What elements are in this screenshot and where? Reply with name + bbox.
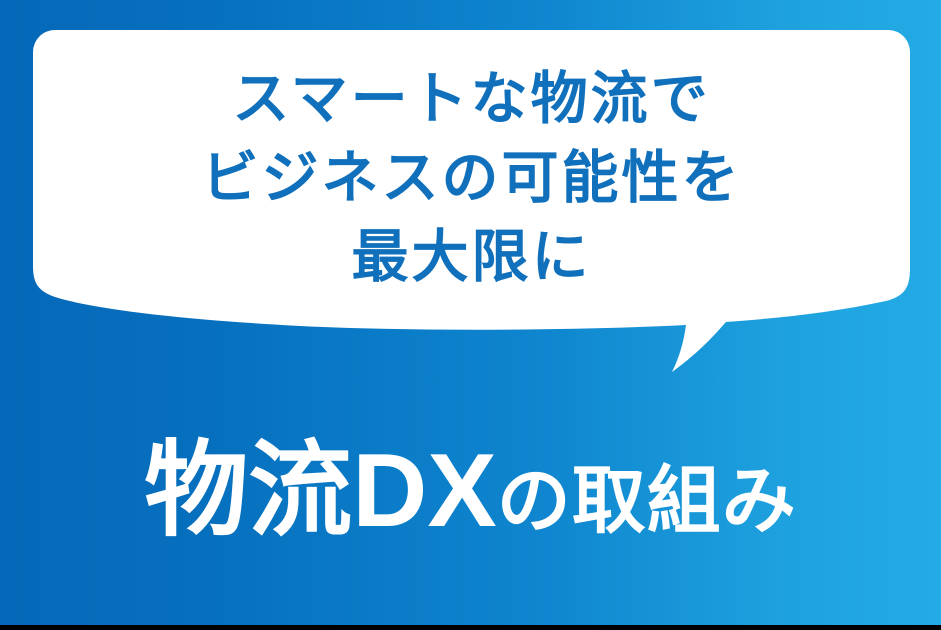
speech-bubble-text: スマートな物流で ビジネスの可能性を 最大限に (33, 60, 910, 297)
page-title: 物流DXの取組み (0, 432, 941, 581)
page-title-primary: 物流DX (144, 433, 496, 549)
promo-banner: スマートな物流で ビジネスの可能性を 最大限に 物流DXの取組み (0, 0, 941, 630)
bubble-line-3: 最大限に (33, 218, 910, 297)
bubble-line-2: ビジネスの可能性を (33, 139, 910, 218)
bubble-line-1: スマートな物流で (33, 60, 910, 139)
bottom-rule (0, 625, 941, 630)
page-title-secondary: の取組み (497, 459, 797, 542)
